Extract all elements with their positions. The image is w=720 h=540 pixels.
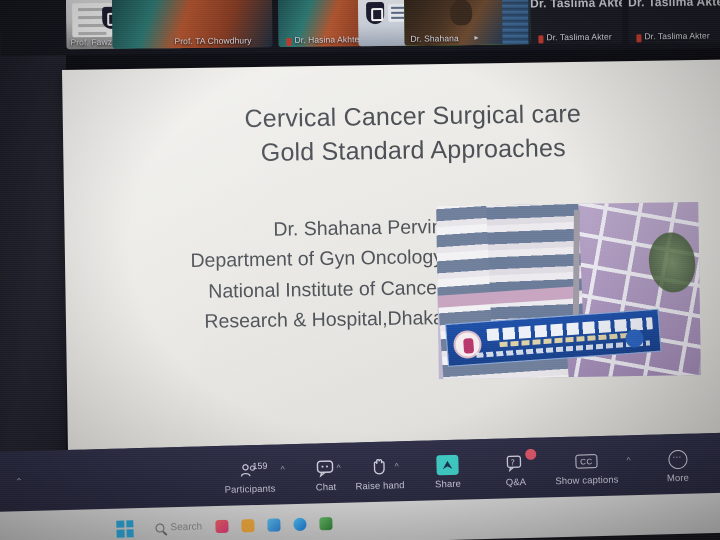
raise-hand-caret-icon[interactable]: ^ (394, 461, 398, 471)
muted-mic-icon (636, 34, 641, 42)
toolbar-label-more: More (641, 472, 715, 485)
shared-presentation-slide[interactable]: Cervical Cancer Surgical care Gold Stand… (62, 59, 720, 462)
cc-box: CC (575, 454, 597, 469)
taskbar-search-box[interactable]: Search (155, 521, 202, 533)
video-tile-name: Dr. Taslima Akter (644, 31, 709, 42)
video-tile-6[interactable]: Dr. Taslima Akter Dr. Taslima Akter (628, 0, 720, 43)
person-silhouette (450, 0, 472, 25)
toolbar-collapse-chevron-icon[interactable]: ⌃ (15, 477, 24, 488)
video-tile-placeholder-name: Dr. Taslima Akter (530, 0, 622, 10)
participants-caret-icon[interactable]: ^ (280, 464, 284, 474)
pinned-indicator-icon: ▸ (474, 33, 478, 42)
muted-mic-icon (538, 35, 543, 43)
toolbar-label-share: Share (411, 478, 485, 491)
video-tile-4-active-speaker[interactable]: Dr. Shahana ▸ (404, 0, 531, 46)
toolbar-button-share[interactable]: ⮝ Share (410, 453, 485, 491)
taskbar-app-icon-5[interactable] (319, 517, 332, 530)
svg-text:?: ? (511, 458, 515, 467)
search-icon (155, 523, 164, 532)
taskbar-app-icon-1[interactable] (215, 519, 228, 532)
ellipsis-icon: ⋯ (640, 447, 715, 471)
video-tile-name: Prof. TA Chowdhury (174, 35, 251, 46)
muted-mic-icon (286, 38, 291, 46)
video-tile-placeholder-name: Dr. Taslima Akter (628, 0, 720, 9)
chat-caret-icon[interactable]: ^ (336, 463, 340, 473)
video-tile-name: Dr. Taslima Akter (546, 32, 611, 43)
taskbar-app-icon-2[interactable] (241, 519, 254, 532)
presenter-institute: National Institute of Cancer (143, 273, 443, 308)
toolbar-button-participants[interactable]: 159 Participants (212, 458, 287, 496)
screen-bezel-left (0, 0, 66, 470)
video-tile-2[interactable]: Prof. TA Chowdhury (112, 0, 273, 49)
share-upload-icon: ⮝ (410, 453, 485, 477)
question-answer-icon-svg: ? (505, 454, 525, 473)
presenter-affiliation-block: Dr. Shahana Pervin Department of Gyn Onc… (142, 212, 444, 338)
window-blinds-graphic (502, 0, 529, 45)
people-icon: 159 (212, 458, 287, 482)
taskbar-app-icon-3[interactable] (267, 518, 280, 531)
presenter-name: Dr. Shahana Pervin (142, 212, 442, 247)
captions-caret-icon[interactable]: ^ (626, 455, 630, 465)
video-tile-name: Dr. Shahana (410, 33, 458, 44)
hospital-building-photo (436, 202, 701, 379)
photo-tree (646, 230, 699, 295)
raised-hand-icon (342, 455, 417, 479)
toolbar-label-participants: Participants (213, 483, 287, 496)
participants-count: 159 (252, 461, 267, 471)
slide-title-line-2: Gold Standard Approaches (203, 131, 623, 171)
toolbar-button-more[interactable]: ⋯ More (640, 447, 715, 485)
shield-icon (366, 2, 384, 24)
presenter-department: Department of Gyn Oncology (143, 242, 443, 277)
share-icon-tile: ⮝ (436, 455, 459, 476)
slide-title: Cervical Cancer Surgical care Gold Stand… (203, 97, 624, 171)
video-tile-name: Dr. Hasina Akhter (294, 34, 362, 45)
taskbar-search-placeholder: Search (170, 521, 202, 533)
taskbar-app-icon-4[interactable] (293, 517, 306, 530)
raised-hand-icon-svg (370, 457, 389, 477)
participant-video-strip: Prof. Fawzia Hossain Prof. TA Chowdhury … (0, 0, 720, 56)
toolbar-label-raise-hand: Raise hand (343, 480, 417, 493)
qa-unread-badge (525, 449, 536, 460)
toolbar-button-show-captions[interactable]: CC Show captions (538, 449, 635, 488)
chat-bubble-icon-svg (315, 459, 335, 478)
more-circle: ⋯ (668, 449, 687, 468)
photo-of-laptop-screen: Prof. Fawzia Hossain Prof. TA Chowdhury … (0, 0, 720, 540)
closed-captions-icon: CC (538, 449, 635, 474)
toolbar-button-raise-hand[interactable]: Raise hand (342, 455, 417, 493)
windows-start-icon[interactable] (116, 520, 133, 537)
presenter-location: Research & Hospital,Dhaka (144, 303, 444, 338)
video-tile-5[interactable]: Dr. Taslima Akter Dr. Taslima Akter (530, 0, 623, 44)
